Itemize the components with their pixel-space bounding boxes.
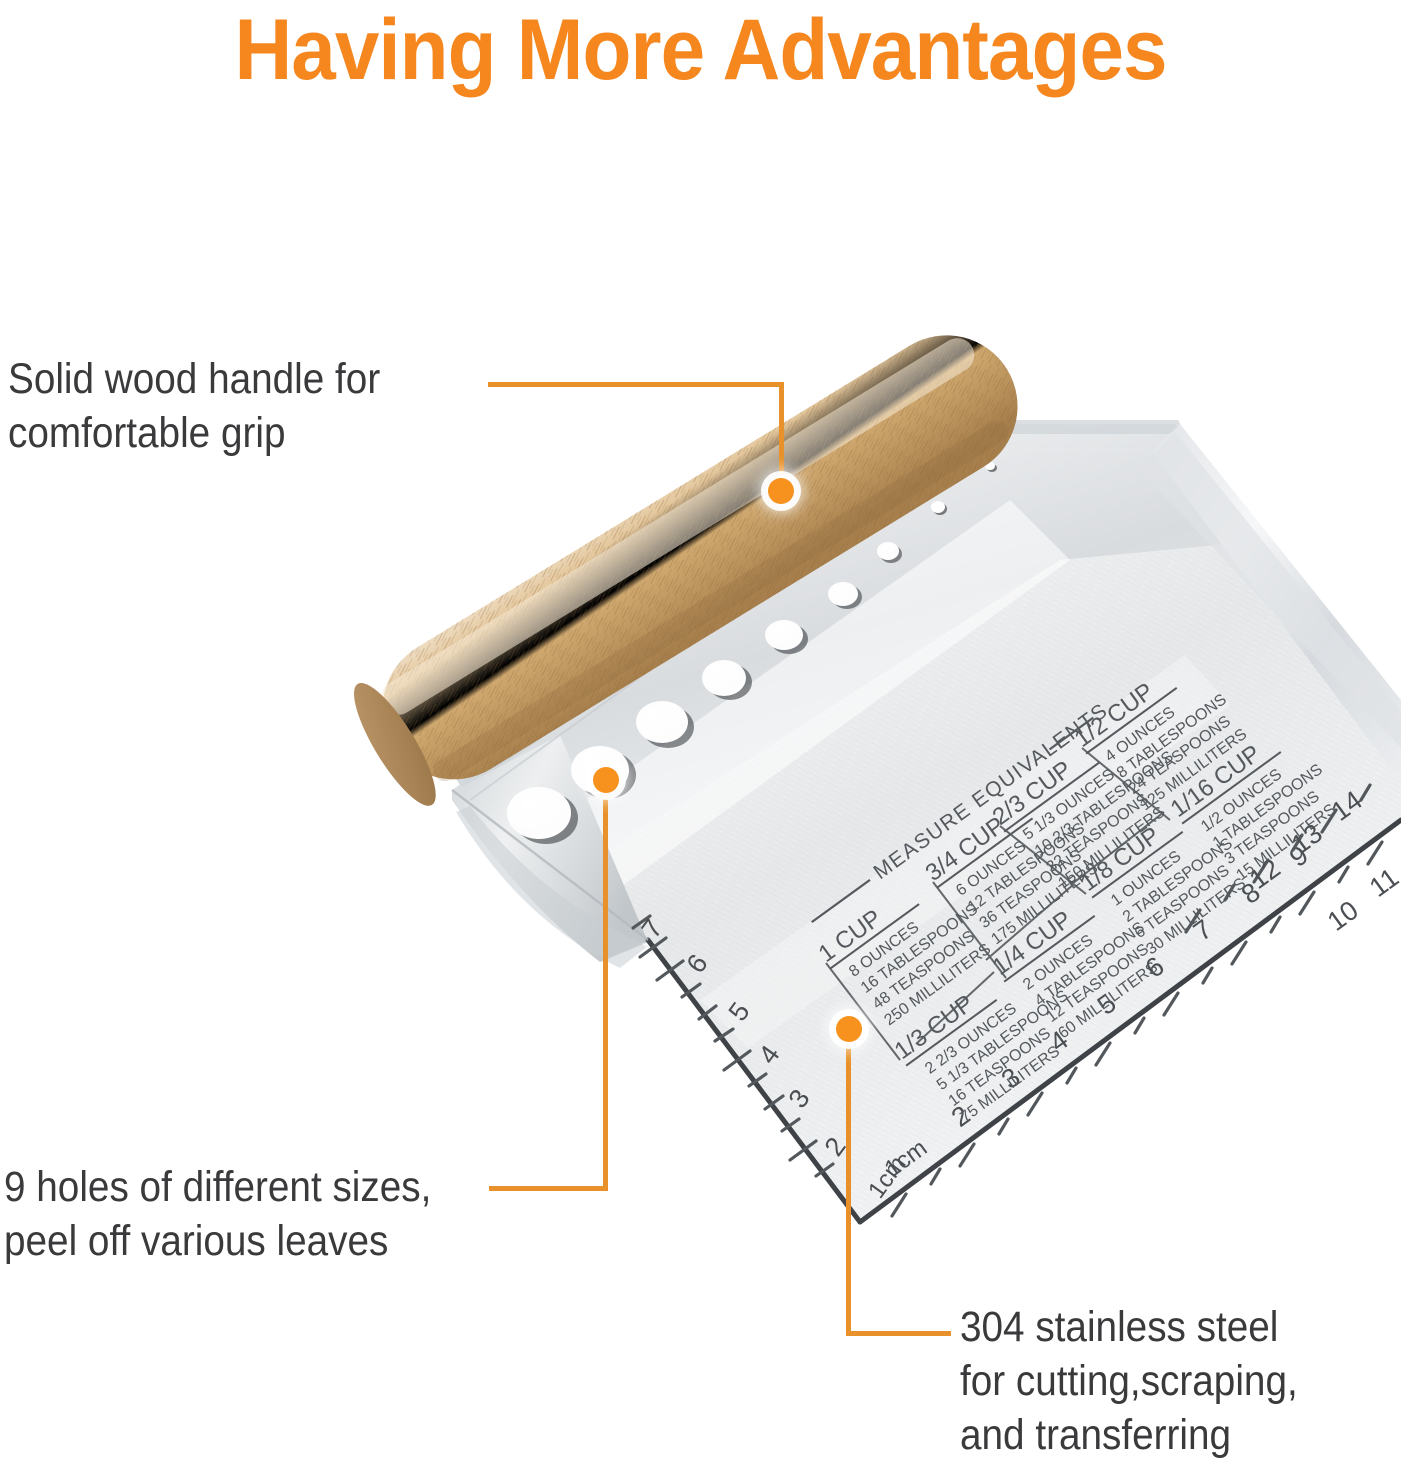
leader-line-steel-horizontal [846,1331,951,1336]
callout-stainless-steel: 304 stainless steel for cutting,scraping… [960,1300,1298,1462]
leader-line-steel-vertical [846,1027,851,1335]
leader-line-holes-horizontal [489,1186,608,1191]
callout-nine-holes: 9 holes of different sizes, peel off var… [4,1160,431,1268]
callout-line: Solid wood handle for [8,352,380,406]
leader-line-handle-vertical [779,382,784,492]
callout-line: 304 stainless steel [960,1300,1298,1354]
ruler-long-label: 10 [1322,895,1364,937]
callout-line: for cutting,scraping, [960,1354,1298,1408]
callout-dot-steel [836,1016,862,1042]
leader-line-handle-horizontal [488,382,784,387]
infographic-canvas: Having More Advantages [0,0,1401,1465]
ruler-long-label: 11 [1364,862,1401,903]
callout-solid-wood-handle: Solid wood handle for comfortable grip [8,352,380,460]
callout-line: 9 holes of different sizes, [4,1160,431,1214]
callout-line: and transferring [960,1408,1298,1462]
callout-dot-holes [593,767,619,793]
leader-line-holes-vertical [603,778,608,1191]
callout-line: peel off various leaves [4,1214,431,1268]
callout-dot-handle [768,478,794,504]
callout-line: comfortable grip [8,406,380,460]
